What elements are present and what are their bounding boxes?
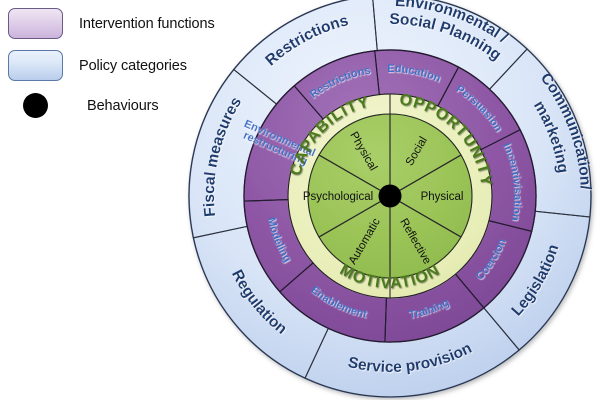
behaviour-center-dot [379, 185, 402, 208]
core-label-psychological-capability: Psychological [303, 191, 373, 203]
wheel-body [189, 0, 591, 397]
diagram-canvas: Intervention functions Policy categories… [0, 0, 600, 400]
core-label-physical-opportunity: Physical [421, 191, 464, 203]
behaviour-change-wheel: RestrictionsEnvironmental /Social Planni… [0, 0, 600, 400]
